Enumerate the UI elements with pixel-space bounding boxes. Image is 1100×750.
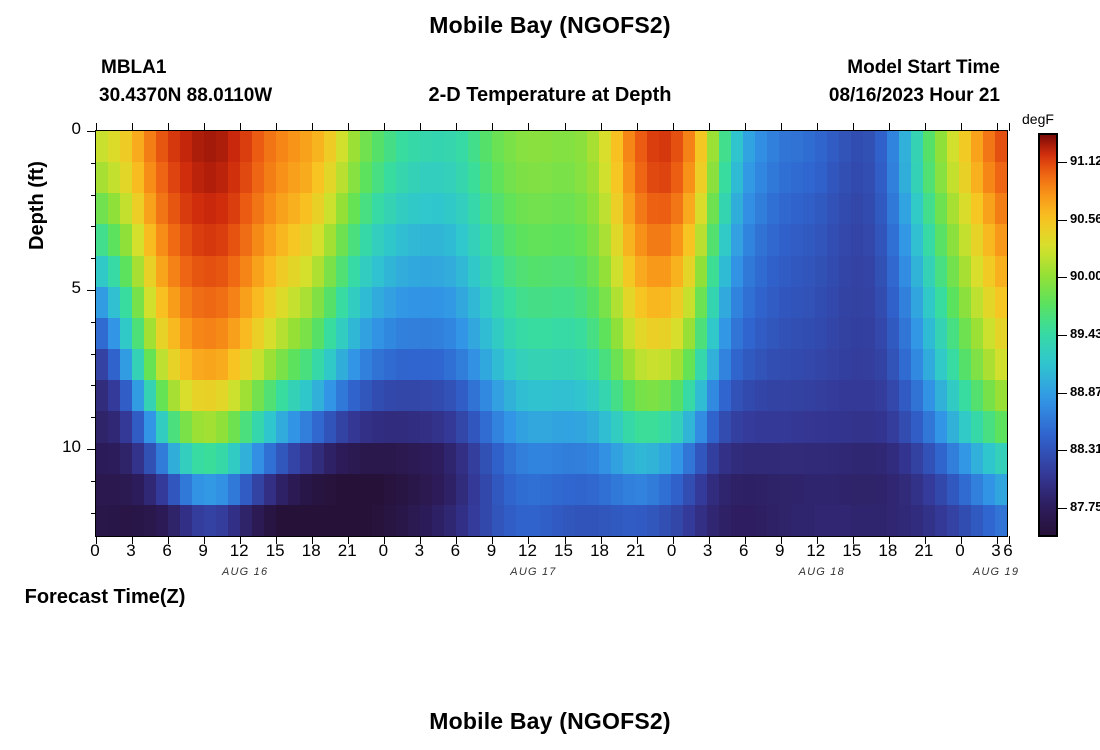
heatmap-cell: [480, 349, 492, 380]
heatmap-cell: [504, 193, 516, 224]
heatmap-cell: [132, 474, 144, 505]
heatmap-cell: [240, 318, 252, 349]
heatmap-cell: [971, 505, 983, 536]
heatmap-cell: [360, 193, 372, 224]
x-axis-tick-label: 9: [471, 541, 511, 561]
heatmap-cell: [216, 411, 228, 442]
heatmap-cell: [132, 443, 144, 474]
heatmap-cell: [575, 224, 587, 255]
heatmap-cell: [408, 318, 420, 349]
heatmap-cell: [132, 256, 144, 287]
heatmap-cell: [731, 380, 743, 411]
x-axis-tick-top: [276, 123, 277, 131]
heatmap-cell: [911, 411, 923, 442]
heatmap-cell: [552, 505, 564, 536]
heatmap-cell: [959, 380, 971, 411]
heatmap-cell: [516, 411, 528, 442]
heatmap-cell: [959, 224, 971, 255]
heatmap-cell: [587, 411, 599, 442]
heatmap-cell: [216, 474, 228, 505]
heatmap-cell: [983, 224, 995, 255]
heatmap-cell: [623, 380, 635, 411]
heatmap-cell: [923, 380, 935, 411]
heatmap-cell: [743, 131, 755, 162]
heatmap-cell: [935, 256, 947, 287]
heatmap-cell: [755, 256, 767, 287]
heatmap-cell: [947, 443, 959, 474]
heatmap-cell: [324, 474, 336, 505]
heatmap-cell: [288, 349, 300, 380]
heatmap-cell: [995, 474, 1007, 505]
heatmap-cell: [288, 474, 300, 505]
heatmap-cell: [791, 411, 803, 442]
heatmap-cell: [983, 131, 995, 162]
heatmap-cell: [540, 443, 552, 474]
heatmap-cell: [911, 474, 923, 505]
x-axis-tick-label: 9: [183, 541, 223, 561]
colorbar-tick: [1058, 220, 1067, 221]
heatmap-cell: [659, 349, 671, 380]
heatmap-cell: [911, 131, 923, 162]
heatmap-cell: [659, 131, 671, 162]
heatmap-cell: [360, 162, 372, 193]
heatmap-cell: [108, 162, 120, 193]
x-axis-tick-label: 21: [904, 541, 944, 561]
heatmap-cell: [863, 380, 875, 411]
y-axis-minor-tick: [91, 226, 96, 227]
heatmap-cell: [827, 380, 839, 411]
heatmap-cell: [995, 411, 1007, 442]
heatmap-cell: [144, 256, 156, 287]
heatmap-cell: [911, 162, 923, 193]
heatmap-cell: [156, 131, 168, 162]
heatmap-cell: [707, 162, 719, 193]
heatmap-cell: [959, 349, 971, 380]
heatmap-cell: [396, 287, 408, 318]
heatmap-cell: [492, 380, 504, 411]
heatmap-cell: [587, 162, 599, 193]
heatmap-cell: [803, 380, 815, 411]
heatmap-cell: [96, 474, 108, 505]
heatmap-cell: [587, 474, 599, 505]
heatmap-cell: [312, 193, 324, 224]
heatmap-cell: [204, 162, 216, 193]
heatmap-cell: [372, 474, 384, 505]
heatmap-cell: [540, 349, 552, 380]
heatmap-cell: [647, 256, 659, 287]
y-axis-minor-tick: [91, 322, 96, 323]
heatmap-cell: [192, 131, 204, 162]
heatmap-cell: [360, 256, 372, 287]
heatmap-cell: [408, 131, 420, 162]
heatmap-cell: [815, 193, 827, 224]
heatmap-cell: [767, 411, 779, 442]
x-axis-tick-top: [384, 123, 385, 131]
heatmap-cell: [887, 318, 899, 349]
heatmap-cell: [552, 256, 564, 287]
x-axis-tick-label: 15: [544, 541, 584, 561]
heatmap-cell: [252, 256, 264, 287]
heatmap-cell: [168, 349, 180, 380]
heatmap-cell: [420, 224, 432, 255]
heatmap-cell: [731, 287, 743, 318]
x-axis-tick-top: [781, 123, 782, 131]
x-axis-tick-label: 18: [868, 541, 908, 561]
heatmap-cell: [456, 505, 468, 536]
heatmap-cell: [540, 318, 552, 349]
heatmap-cell: [707, 256, 719, 287]
heatmap-cell: [96, 505, 108, 536]
heatmap-cell: [180, 505, 192, 536]
heatmap-cell: [959, 474, 971, 505]
heatmap-cell: [743, 380, 755, 411]
heatmap-cell: [300, 131, 312, 162]
heatmap-cell: [432, 380, 444, 411]
x-axis-tick-label: 15: [255, 541, 295, 561]
x-axis-tick-label: 3: [399, 541, 439, 561]
heatmap-cell: [695, 131, 707, 162]
heatmap-cell: [156, 318, 168, 349]
heatmap-cell: [899, 193, 911, 224]
heatmap-cell: [923, 411, 935, 442]
x-axis-tick-label: 9: [760, 541, 800, 561]
heatmap-cell: [767, 131, 779, 162]
heatmap-cell: [755, 349, 767, 380]
heatmap-cell: [647, 224, 659, 255]
heatmap-cell: [611, 131, 623, 162]
heatmap-cell: [156, 162, 168, 193]
heatmap-cell: [144, 224, 156, 255]
heatmap-cell: [779, 224, 791, 255]
heatmap-cell: [360, 411, 372, 442]
heatmap-cell: [971, 349, 983, 380]
heatmap-cell: [875, 224, 887, 255]
heatmap-cell: [312, 224, 324, 255]
heatmap-cell: [192, 380, 204, 411]
heatmap-cell: [348, 224, 360, 255]
heatmap-cell: [935, 193, 947, 224]
heatmap-cell: [815, 349, 827, 380]
heatmap-cell: [563, 224, 575, 255]
heatmap-cell: [779, 411, 791, 442]
heatmap-cell: [851, 131, 863, 162]
heatmap-cell: [851, 256, 863, 287]
heatmap-cell: [132, 318, 144, 349]
x-axis-tick-top: [637, 123, 638, 131]
heatmap-cell: [396, 443, 408, 474]
heatmap-cell: [647, 131, 659, 162]
heatmap-cell: [456, 131, 468, 162]
heatmap-cell: [995, 224, 1007, 255]
heatmap-cell: [312, 131, 324, 162]
x-axis-day-label: AUG 16: [200, 566, 290, 578]
x-axis-tick-label: 6: [988, 541, 1028, 561]
heatmap-cell: [911, 224, 923, 255]
heatmap-cell: [420, 380, 432, 411]
heatmap-cell: [719, 411, 731, 442]
x-axis-tick-label: 12: [219, 541, 259, 561]
heatmap-cell: [192, 224, 204, 255]
heatmap-cell: [791, 443, 803, 474]
heatmap-cell: [587, 349, 599, 380]
heatmap-cell: [420, 505, 432, 536]
x-axis-tick-top: [889, 123, 890, 131]
heatmap-cell: [743, 349, 755, 380]
heatmap-cell: [168, 411, 180, 442]
heatmap-cell: [563, 505, 575, 536]
heatmap-cell: [432, 443, 444, 474]
heatmap-cell: [803, 443, 815, 474]
x-axis-tick-label: 15: [832, 541, 872, 561]
heatmap-cell: [671, 411, 683, 442]
heatmap-cell: [336, 443, 348, 474]
heatmap-cell: [144, 411, 156, 442]
heatmap-cell: [216, 131, 228, 162]
heatmap-cell: [827, 318, 839, 349]
x-axis-tick-label: 0: [652, 541, 692, 561]
heatmap-cell: [839, 443, 851, 474]
heatmap-cell: [887, 505, 899, 536]
heatmap-cell: [192, 411, 204, 442]
heatmap-cell: [324, 193, 336, 224]
y-axis-minor-tick: [91, 417, 96, 418]
x-axis-tick-top: [817, 123, 818, 131]
heatmap-cell: [995, 318, 1007, 349]
heatmap-cell: [947, 474, 959, 505]
heatmap-cell: [444, 318, 456, 349]
heatmap-cell: [456, 443, 468, 474]
heatmap-cell: [767, 256, 779, 287]
heatmap-cell: [671, 256, 683, 287]
heatmap-cell: [120, 193, 132, 224]
heatmap-cell: [468, 411, 480, 442]
x-axis-tick-top: [961, 123, 962, 131]
heatmap-cell: [312, 287, 324, 318]
heatmap-cell: [599, 474, 611, 505]
heatmap-cell: [204, 131, 216, 162]
y-axis-minor-tick: [91, 385, 96, 386]
heatmap-cell: [480, 380, 492, 411]
heatmap-cell: [468, 224, 480, 255]
heatmap-cell: [384, 411, 396, 442]
heatmap-cell: [659, 474, 671, 505]
heatmap-cell: [767, 193, 779, 224]
heatmap-cell: [324, 349, 336, 380]
heatmap-cell: [743, 443, 755, 474]
heatmap-cell: [384, 287, 396, 318]
heatmap-cell: [671, 193, 683, 224]
heatmap-cell: [528, 256, 540, 287]
heatmap-cell: [336, 162, 348, 193]
heatmap-cell: [348, 162, 360, 193]
heatmap-cell: [611, 474, 623, 505]
heatmap-cell: [623, 224, 635, 255]
heatmap-cell: [264, 131, 276, 162]
heatmap-cell: [767, 474, 779, 505]
heatmap-cell: [707, 443, 719, 474]
heatmap-cell: [863, 256, 875, 287]
heatmap-cell: [240, 193, 252, 224]
heatmap-cell: [743, 256, 755, 287]
heatmap-cell: [623, 443, 635, 474]
heatmap-cell: [360, 505, 372, 536]
heatmap-cell: [755, 380, 767, 411]
heatmap-cell: [803, 349, 815, 380]
heatmap-cell: [803, 256, 815, 287]
heatmap-cell: [995, 193, 1007, 224]
heatmap-cell: [180, 474, 192, 505]
heatmap-cell: [228, 443, 240, 474]
heatmap-cell: [563, 380, 575, 411]
heatmap-cell: [252, 131, 264, 162]
heatmap-cell: [312, 162, 324, 193]
heatmap-cell: [132, 411, 144, 442]
heatmap-cell: [875, 256, 887, 287]
heatmap-cell: [599, 256, 611, 287]
heatmap-cell: [360, 131, 372, 162]
heatmap-cell: [300, 443, 312, 474]
heatmap-cell: [959, 131, 971, 162]
heatmap-cell: [767, 380, 779, 411]
heatmap-cell: [144, 380, 156, 411]
heatmap-cell: [96, 131, 108, 162]
heatmap-cell: [971, 474, 983, 505]
heatmap-cell: [300, 318, 312, 349]
heatmap-cell: [983, 505, 995, 536]
heatmap-cell: [671, 131, 683, 162]
heatmap-cell: [875, 443, 887, 474]
heatmap-cell: [492, 349, 504, 380]
heatmap-cell: [156, 443, 168, 474]
heatmap-cell: [300, 224, 312, 255]
heatmap-cell: [408, 224, 420, 255]
heatmap-cell: [995, 131, 1007, 162]
heatmap-cell: [372, 131, 384, 162]
heatmap-cell: [504, 505, 516, 536]
heatmap-cell: [360, 443, 372, 474]
heatmap-cell: [456, 349, 468, 380]
heatmap-cell: [192, 162, 204, 193]
heatmap-cell: [851, 411, 863, 442]
heatmap-cell: [360, 474, 372, 505]
x-axis-tick-label: 21: [327, 541, 367, 561]
heatmap-cell: [659, 256, 671, 287]
heatmap-cell: [348, 505, 360, 536]
heatmap-cell: [827, 443, 839, 474]
x-axis-tick-label: 0: [75, 541, 115, 561]
heatmap-cell: [971, 287, 983, 318]
heatmap-cell: [851, 224, 863, 255]
heatmap-cell: [384, 380, 396, 411]
heatmap-cell: [420, 411, 432, 442]
heatmap-cell: [204, 505, 216, 536]
heatmap-cell: [156, 193, 168, 224]
heatmap-cell: [683, 349, 695, 380]
heatmap-cell: [803, 474, 815, 505]
heatmap-cell: [899, 411, 911, 442]
heatmap-cell: [132, 287, 144, 318]
heatmap-cell: [611, 224, 623, 255]
heatmap-cell: [96, 162, 108, 193]
heatmap-cell: [647, 193, 659, 224]
heatmap-cell: [611, 193, 623, 224]
heatmap-cell: [695, 380, 707, 411]
x-axis-tick-label: 21: [616, 541, 656, 561]
heatmap-cell: [719, 131, 731, 162]
heatmap-cell: [707, 131, 719, 162]
heatmap-cell: [755, 224, 767, 255]
heatmap-cell: [563, 411, 575, 442]
heatmap-cell: [827, 474, 839, 505]
heatmap-cell: [240, 162, 252, 193]
heatmap-cell: [971, 131, 983, 162]
heatmap-cell: [240, 474, 252, 505]
heatmap-cell: [492, 162, 504, 193]
heatmap-cell: [971, 318, 983, 349]
heatmap-cell: [815, 505, 827, 536]
heatmap-cell: [456, 474, 468, 505]
heatmap-cell: [719, 318, 731, 349]
heatmap-cell: [875, 287, 887, 318]
heatmap-cell: [791, 131, 803, 162]
heatmap-cell: [731, 505, 743, 536]
heatmap-cell: [887, 349, 899, 380]
heatmap-cell: [635, 474, 647, 505]
heatmap-cell: [947, 256, 959, 287]
heatmap-cell: [360, 380, 372, 411]
colorbar-tick-label: 90.5625: [1070, 211, 1100, 226]
heatmap-cell: [755, 318, 767, 349]
heatmap-cell: [731, 193, 743, 224]
heatmap-cell: [611, 443, 623, 474]
x-axis-tick-label: 3: [688, 541, 728, 561]
heatmap-cell: [623, 162, 635, 193]
heatmap-cell: [971, 380, 983, 411]
heatmap-cell: [204, 318, 216, 349]
heatmap-cell: [671, 443, 683, 474]
heatmap-cell: [635, 162, 647, 193]
x-axis-tick-label: 6: [724, 541, 764, 561]
heatmap-cell: [336, 131, 348, 162]
heatmap-cell: [647, 380, 659, 411]
heatmap-cell: [695, 224, 707, 255]
heatmap-cell: [180, 411, 192, 442]
heatmap-cell: [935, 411, 947, 442]
heatmap-cell: [635, 131, 647, 162]
heatmap-cell: [839, 287, 851, 318]
heatmap-cell: [587, 318, 599, 349]
heatmap-cell: [791, 380, 803, 411]
heatmap-cell: [779, 256, 791, 287]
heatmap-cell: [444, 256, 456, 287]
heatmap-cell: [599, 443, 611, 474]
heatmap-cell: [204, 287, 216, 318]
heatmap-cell: [468, 193, 480, 224]
heatmap-cell: [132, 131, 144, 162]
page-title-top: Mobile Bay (NGOFS2): [0, 12, 1100, 39]
heatmap-cell: [192, 193, 204, 224]
heatmap-cell: [983, 318, 995, 349]
heatmap-cell: [791, 318, 803, 349]
heatmap-cell: [312, 505, 324, 536]
heatmap-cell: [108, 318, 120, 349]
heatmap-cell: [959, 162, 971, 193]
heatmap-cell: [659, 443, 671, 474]
heatmap-cell: [779, 474, 791, 505]
heatmap-cell: [228, 318, 240, 349]
heatmap-cell: [372, 224, 384, 255]
heatmap-cell: [168, 505, 180, 536]
